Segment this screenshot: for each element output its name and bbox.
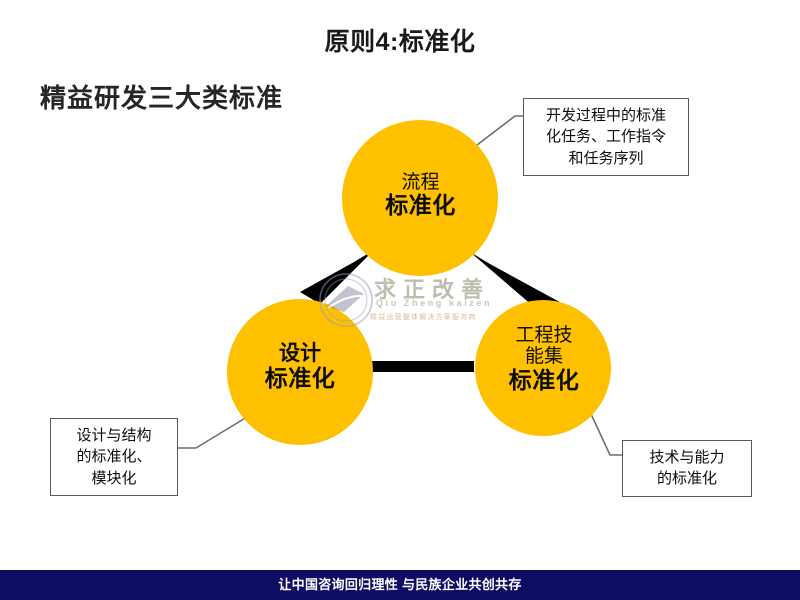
callout-design-line1: 设计与结构 <box>58 425 170 446</box>
callout-design-line3: 模块化 <box>58 468 170 489</box>
leader-line-design <box>178 417 247 448</box>
footer-bar: 让中国咨询回归理性 与民族企业共创共存 <box>0 570 800 600</box>
diagram <box>0 0 800 600</box>
leader-line-engineering <box>591 414 622 455</box>
callout-design: 设计与结构 的标准化、 模块化 <box>50 418 178 496</box>
leader-line-process <box>477 116 523 145</box>
circle-process <box>342 120 498 276</box>
circle-design <box>227 299 373 445</box>
callout-process-line3: 和任务序列 <box>531 148 681 169</box>
callout-design-line2: 的标准化、 <box>58 446 170 467</box>
connector-design-engineering <box>370 361 474 372</box>
footer-text: 让中国咨询回归理性 与民族企业共创共存 <box>0 570 800 600</box>
connector-process-design <box>300 250 374 304</box>
callout-process-line1: 开发过程中的标准 <box>531 105 681 126</box>
circle-engineering <box>475 300 611 436</box>
callout-engineering: 技术与能力 的标准化 <box>622 440 752 497</box>
callout-engineering-line1: 技术与能力 <box>630 447 744 468</box>
callout-engineering-line2: 的标准化 <box>630 468 744 489</box>
slide-canvas: 原则4:标准化 精益研发三大类标准 求正改善 Qi <box>0 0 800 600</box>
callout-process-line2: 化任务、工作指令 <box>531 126 681 147</box>
callout-process: 开发过程中的标准 化任务、工作指令 和任务序列 <box>523 98 689 176</box>
